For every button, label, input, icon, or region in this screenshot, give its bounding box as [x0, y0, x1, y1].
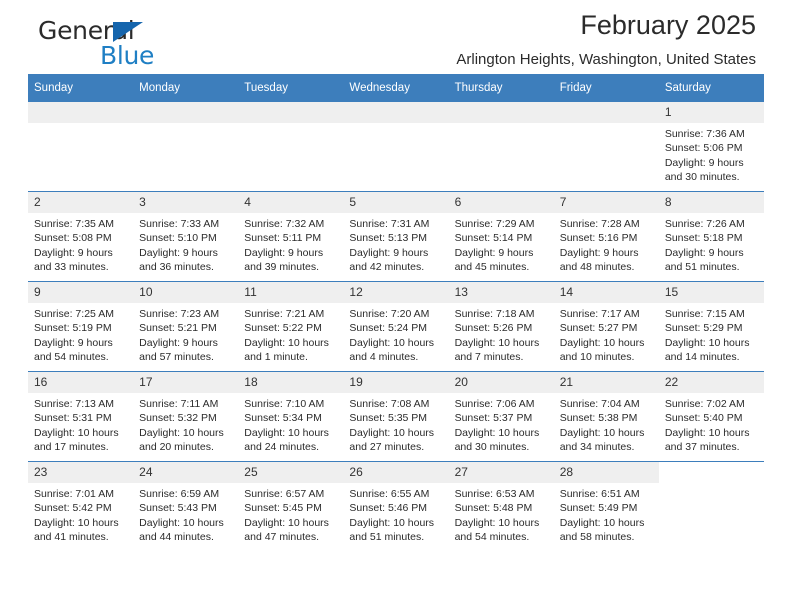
calendar-day-cell[interactable]: 17Sunrise: 7:11 AMSunset: 5:32 PMDayligh… — [133, 372, 238, 462]
calendar-day-cell[interactable]: 27Sunrise: 6:53 AMSunset: 5:48 PMDayligh… — [449, 462, 554, 552]
calendar-day-cell[interactable]: 10Sunrise: 7:23 AMSunset: 5:21 PMDayligh… — [133, 282, 238, 372]
calendar-week-row: 23Sunrise: 7:01 AMSunset: 5:42 PMDayligh… — [28, 462, 764, 552]
calendar-week-row: 9Sunrise: 7:25 AMSunset: 5:19 PMDaylight… — [28, 282, 764, 372]
sunset-text: Sunset: 5:37 PM — [455, 411, 549, 425]
sunrise-text: Sunrise: 7:15 AM — [665, 307, 759, 321]
weekday-header-wednesday: Wednesday — [343, 74, 448, 102]
calendar-day-cell[interactable]: 25Sunrise: 6:57 AMSunset: 5:45 PMDayligh… — [238, 462, 343, 552]
sunset-text: Sunset: 5:40 PM — [665, 411, 759, 425]
daylight-text: Daylight: 10 hours and 4 minutes. — [349, 336, 443, 365]
sunset-text: Sunset: 5:35 PM — [349, 411, 443, 425]
day-details: Sunrise: 7:25 AMSunset: 5:19 PMDaylight:… — [28, 303, 133, 364]
daylight-text: Daylight: 9 hours and 57 minutes. — [139, 336, 233, 365]
sunset-text: Sunset: 5:16 PM — [560, 231, 654, 245]
day-details: Sunrise: 7:23 AMSunset: 5:21 PMDaylight:… — [133, 303, 238, 364]
weekday-header-friday: Friday — [554, 74, 659, 102]
sunrise-text: Sunrise: 7:32 AM — [244, 217, 338, 231]
sunrise-text: Sunrise: 6:55 AM — [349, 487, 443, 501]
day-details: Sunrise: 7:01 AMSunset: 5:42 PMDaylight:… — [28, 483, 133, 544]
day-details: Sunrise: 6:57 AMSunset: 5:45 PMDaylight:… — [238, 483, 343, 544]
day-details: Sunrise: 7:11 AMSunset: 5:32 PMDaylight:… — [133, 393, 238, 454]
sunrise-text: Sunrise: 7:26 AM — [665, 217, 759, 231]
sunset-text: Sunset: 5:43 PM — [139, 501, 233, 515]
calendar-day-cell[interactable]: 20Sunrise: 7:06 AMSunset: 5:37 PMDayligh… — [449, 372, 554, 462]
daylight-text: Daylight: 9 hours and 45 minutes. — [455, 246, 549, 275]
weekday-header-thursday: Thursday — [449, 74, 554, 102]
sunrise-text: Sunrise: 6:53 AM — [455, 487, 549, 501]
calendar-week-row: 2Sunrise: 7:35 AMSunset: 5:08 PMDaylight… — [28, 192, 764, 282]
sunrise-text: Sunrise: 7:36 AM — [665, 127, 759, 141]
daylight-text: Daylight: 10 hours and 44 minutes. — [139, 516, 233, 545]
daylight-text: Daylight: 9 hours and 39 minutes. — [244, 246, 338, 275]
sunset-text: Sunset: 5:11 PM — [244, 231, 338, 245]
day-details: Sunrise: 7:20 AMSunset: 5:24 PMDaylight:… — [343, 303, 448, 364]
sunset-text: Sunset: 5:08 PM — [34, 231, 128, 245]
sunrise-text: Sunrise: 7:21 AM — [244, 307, 338, 321]
sunrise-text: Sunrise: 7:33 AM — [139, 217, 233, 231]
day-details: Sunrise: 7:13 AMSunset: 5:31 PMDaylight:… — [28, 393, 133, 454]
sunrise-text: Sunrise: 7:01 AM — [34, 487, 128, 501]
sunrise-text: Sunrise: 7:02 AM — [665, 397, 759, 411]
calendar-day-cell[interactable]: 5Sunrise: 7:31 AMSunset: 5:13 PMDaylight… — [343, 192, 448, 282]
sunrise-text: Sunrise: 7:06 AM — [455, 397, 549, 411]
daylight-text: Daylight: 10 hours and 54 minutes. — [455, 516, 549, 545]
day-details: Sunrise: 7:26 AMSunset: 5:18 PMDaylight:… — [659, 213, 764, 274]
sunset-text: Sunset: 5:26 PM — [455, 321, 549, 335]
calendar-week-row: 16Sunrise: 7:13 AMSunset: 5:31 PMDayligh… — [28, 372, 764, 462]
day-number: 20 — [449, 372, 554, 393]
day-details: Sunrise: 7:02 AMSunset: 5:40 PMDaylight:… — [659, 393, 764, 454]
day-number — [449, 102, 554, 123]
day-number: 27 — [449, 462, 554, 483]
day-number — [554, 102, 659, 123]
calendar-day-cell[interactable]: 7Sunrise: 7:28 AMSunset: 5:16 PMDaylight… — [554, 192, 659, 282]
calendar-empty-cell — [238, 102, 343, 192]
daylight-text: Daylight: 10 hours and 10 minutes. — [560, 336, 654, 365]
day-details: Sunrise: 6:55 AMSunset: 5:46 PMDaylight:… — [343, 483, 448, 544]
day-number: 17 — [133, 372, 238, 393]
day-number: 1 — [659, 102, 764, 123]
sunset-text: Sunset: 5:34 PM — [244, 411, 338, 425]
calendar-day-cell[interactable]: 6Sunrise: 7:29 AMSunset: 5:14 PMDaylight… — [449, 192, 554, 282]
calendar-week-row: 1Sunrise: 7:36 AMSunset: 5:06 PMDaylight… — [28, 102, 764, 192]
day-number — [133, 102, 238, 123]
sunrise-text: Sunrise: 7:25 AM — [34, 307, 128, 321]
daylight-text: Daylight: 9 hours and 36 minutes. — [139, 246, 233, 275]
calendar-day-cell[interactable]: 24Sunrise: 6:59 AMSunset: 5:43 PMDayligh… — [133, 462, 238, 552]
day-details: Sunrise: 7:28 AMSunset: 5:16 PMDaylight:… — [554, 213, 659, 274]
calendar-day-cell[interactable]: 2Sunrise: 7:35 AMSunset: 5:08 PMDaylight… — [28, 192, 133, 282]
day-number: 22 — [659, 372, 764, 393]
sunset-text: Sunset: 5:27 PM — [560, 321, 654, 335]
day-details: Sunrise: 7:32 AMSunset: 5:11 PMDaylight:… — [238, 213, 343, 274]
day-number — [28, 102, 133, 123]
sunset-text: Sunset: 5:14 PM — [455, 231, 549, 245]
day-details: Sunrise: 7:29 AMSunset: 5:14 PMDaylight:… — [449, 213, 554, 274]
weekday-header-monday: Monday — [133, 74, 238, 102]
calendar-day-cell[interactable]: 11Sunrise: 7:21 AMSunset: 5:22 PMDayligh… — [238, 282, 343, 372]
calendar-page: General Blue February 2025 Arlington Hei… — [0, 0, 792, 612]
sunrise-text: Sunrise: 7:10 AM — [244, 397, 338, 411]
day-details: Sunrise: 7:33 AMSunset: 5:10 PMDaylight:… — [133, 213, 238, 274]
sunrise-text: Sunrise: 6:59 AM — [139, 487, 233, 501]
logo-text-blue: Blue — [100, 41, 154, 70]
sunrise-text: Sunrise: 7:04 AM — [560, 397, 654, 411]
sunset-text: Sunset: 5:31 PM — [34, 411, 128, 425]
day-details: Sunrise: 7:08 AMSunset: 5:35 PMDaylight:… — [343, 393, 448, 454]
daylight-text: Daylight: 9 hours and 54 minutes. — [34, 336, 128, 365]
day-number: 7 — [554, 192, 659, 213]
calendar-empty-cell — [449, 102, 554, 192]
calendar-day-cell[interactable]: 1Sunrise: 7:36 AMSunset: 5:06 PMDaylight… — [659, 102, 764, 192]
sunrise-text: Sunrise: 7:11 AM — [139, 397, 233, 411]
weekday-header-sunday: Sunday — [28, 74, 133, 102]
day-number: 12 — [343, 282, 448, 303]
daylight-text: Daylight: 10 hours and 58 minutes. — [560, 516, 654, 545]
daylight-text: Daylight: 9 hours and 51 minutes. — [665, 246, 759, 275]
calendar-day-cell[interactable]: 12Sunrise: 7:20 AMSunset: 5:24 PMDayligh… — [343, 282, 448, 372]
daylight-text: Daylight: 10 hours and 37 minutes. — [665, 426, 759, 455]
day-number: 21 — [554, 372, 659, 393]
sunset-text: Sunset: 5:32 PM — [139, 411, 233, 425]
calendar-empty-cell — [554, 102, 659, 192]
daylight-text: Daylight: 10 hours and 51 minutes. — [349, 516, 443, 545]
daylight-text: Daylight: 10 hours and 30 minutes. — [455, 426, 549, 455]
calendar-day-cell[interactable]: 4Sunrise: 7:32 AMSunset: 5:11 PMDaylight… — [238, 192, 343, 282]
daylight-text: Daylight: 9 hours and 33 minutes. — [34, 246, 128, 275]
sunset-text: Sunset: 5:29 PM — [665, 321, 759, 335]
calendar-empty-cell — [343, 102, 448, 192]
daylight-text: Daylight: 10 hours and 17 minutes. — [34, 426, 128, 455]
day-details: Sunrise: 7:06 AMSunset: 5:37 PMDaylight:… — [449, 393, 554, 454]
calendar-empty-cell — [28, 102, 133, 192]
day-number: 23 — [28, 462, 133, 483]
daylight-text: Daylight: 9 hours and 30 minutes. — [665, 156, 759, 185]
calendar-day-cell[interactable]: 9Sunrise: 7:25 AMSunset: 5:19 PMDaylight… — [28, 282, 133, 372]
page-title: February 2025 — [456, 8, 756, 42]
calendar-day-cell[interactable]: 3Sunrise: 7:33 AMSunset: 5:10 PMDaylight… — [133, 192, 238, 282]
sunset-text: Sunset: 5:24 PM — [349, 321, 443, 335]
day-details: Sunrise: 6:53 AMSunset: 5:48 PMDaylight:… — [449, 483, 554, 544]
calendar-day-cell[interactable]: 26Sunrise: 6:55 AMSunset: 5:46 PMDayligh… — [343, 462, 448, 552]
sunrise-text: Sunrise: 6:57 AM — [244, 487, 338, 501]
calendar-day-cell[interactable]: 23Sunrise: 7:01 AMSunset: 5:42 PMDayligh… — [28, 462, 133, 552]
day-details: Sunrise: 7:04 AMSunset: 5:38 PMDaylight:… — [554, 393, 659, 454]
daylight-text: Daylight: 10 hours and 24 minutes. — [244, 426, 338, 455]
day-number: 26 — [343, 462, 448, 483]
daylight-text: Daylight: 9 hours and 48 minutes. — [560, 246, 654, 275]
sunrise-text: Sunrise: 6:51 AM — [560, 487, 654, 501]
day-number: 11 — [238, 282, 343, 303]
sunset-text: Sunset: 5:22 PM — [244, 321, 338, 335]
calendar-body: 1Sunrise: 7:36 AMSunset: 5:06 PMDaylight… — [28, 102, 764, 551]
page-subtitle: Arlington Heights, Washington, United St… — [456, 49, 756, 71]
day-number: 24 — [133, 462, 238, 483]
sunset-text: Sunset: 5:19 PM — [34, 321, 128, 335]
day-number: 2 — [28, 192, 133, 213]
page-header: General Blue February 2025 Arlington Hei… — [28, 0, 764, 74]
day-number — [238, 102, 343, 123]
day-number: 15 — [659, 282, 764, 303]
calendar-day-cell[interactable]: 15Sunrise: 7:15 AMSunset: 5:29 PMDayligh… — [659, 282, 764, 372]
day-details: Sunrise: 7:18 AMSunset: 5:26 PMDaylight:… — [449, 303, 554, 364]
calendar-empty-cell — [659, 462, 764, 552]
weekday-header-saturday: Saturday — [659, 74, 764, 102]
daylight-text: Daylight: 10 hours and 14 minutes. — [665, 336, 759, 365]
daylight-text: Daylight: 10 hours and 7 minutes. — [455, 336, 549, 365]
logo-triangle-icon — [113, 22, 143, 42]
sunrise-text: Sunrise: 7:28 AM — [560, 217, 654, 231]
calendar-empty-cell — [133, 102, 238, 192]
daylight-text: Daylight: 10 hours and 34 minutes. — [560, 426, 654, 455]
sunrise-text: Sunrise: 7:20 AM — [349, 307, 443, 321]
calendar-day-cell[interactable]: 18Sunrise: 7:10 AMSunset: 5:34 PMDayligh… — [238, 372, 343, 462]
day-details: Sunrise: 7:35 AMSunset: 5:08 PMDaylight:… — [28, 213, 133, 274]
calendar-day-cell[interactable]: 13Sunrise: 7:18 AMSunset: 5:26 PMDayligh… — [449, 282, 554, 372]
title-block: February 2025 Arlington Heights, Washing… — [456, 8, 756, 71]
day-number: 28 — [554, 462, 659, 483]
day-number: 6 — [449, 192, 554, 213]
sunrise-text: Sunrise: 7:18 AM — [455, 307, 549, 321]
sunset-text: Sunset: 5:10 PM — [139, 231, 233, 245]
sunrise-text: Sunrise: 7:35 AM — [34, 217, 128, 231]
calendar-day-cell[interactable]: 14Sunrise: 7:17 AMSunset: 5:27 PMDayligh… — [554, 282, 659, 372]
day-number: 10 — [133, 282, 238, 303]
day-number: 4 — [238, 192, 343, 213]
day-details: Sunrise: 6:51 AMSunset: 5:49 PMDaylight:… — [554, 483, 659, 544]
day-number: 5 — [343, 192, 448, 213]
sunset-text: Sunset: 5:49 PM — [560, 501, 654, 515]
sunrise-text: Sunrise: 7:08 AM — [349, 397, 443, 411]
general-blue-logo[interactable]: General Blue — [38, 16, 268, 70]
sunset-text: Sunset: 5:13 PM — [349, 231, 443, 245]
sunset-text: Sunset: 5:06 PM — [665, 141, 759, 155]
sunset-text: Sunset: 5:18 PM — [665, 231, 759, 245]
calendar-day-cell[interactable]: 19Sunrise: 7:08 AMSunset: 5:35 PMDayligh… — [343, 372, 448, 462]
day-details: Sunrise: 6:59 AMSunset: 5:43 PMDaylight:… — [133, 483, 238, 544]
day-number — [343, 102, 448, 123]
sunrise-text: Sunrise: 7:29 AM — [455, 217, 549, 231]
day-details: Sunrise: 7:31 AMSunset: 5:13 PMDaylight:… — [343, 213, 448, 274]
calendar-day-cell[interactable]: 8Sunrise: 7:26 AMSunset: 5:18 PMDaylight… — [659, 192, 764, 282]
daylight-text: Daylight: 10 hours and 20 minutes. — [139, 426, 233, 455]
day-number: 9 — [28, 282, 133, 303]
sunset-text: Sunset: 5:21 PM — [139, 321, 233, 335]
day-number: 18 — [238, 372, 343, 393]
day-number: 19 — [343, 372, 448, 393]
sunrise-sunset-calendar: Sunday Monday Tuesday Wednesday Thursday… — [28, 74, 764, 551]
day-number: 14 — [554, 282, 659, 303]
daylight-text: Daylight: 10 hours and 41 minutes. — [34, 516, 128, 545]
calendar-day-cell[interactable]: 28Sunrise: 6:51 AMSunset: 5:49 PMDayligh… — [554, 462, 659, 552]
sunrise-text: Sunrise: 7:17 AM — [560, 307, 654, 321]
day-number: 3 — [133, 192, 238, 213]
sunset-text: Sunset: 5:45 PM — [244, 501, 338, 515]
day-number: 8 — [659, 192, 764, 213]
sunset-text: Sunset: 5:42 PM — [34, 501, 128, 515]
day-details: Sunrise: 7:36 AMSunset: 5:06 PMDaylight:… — [659, 123, 764, 184]
day-number: 16 — [28, 372, 133, 393]
calendar-day-cell[interactable]: 16Sunrise: 7:13 AMSunset: 5:31 PMDayligh… — [28, 372, 133, 462]
sunrise-text: Sunrise: 7:13 AM — [34, 397, 128, 411]
sunrise-text: Sunrise: 7:31 AM — [349, 217, 443, 231]
calendar-day-cell[interactable]: 21Sunrise: 7:04 AMSunset: 5:38 PMDayligh… — [554, 372, 659, 462]
daylight-text: Daylight: 9 hours and 42 minutes. — [349, 246, 443, 275]
daylight-text: Daylight: 10 hours and 27 minutes. — [349, 426, 443, 455]
day-number: 13 — [449, 282, 554, 303]
weekday-header-tuesday: Tuesday — [238, 74, 343, 102]
daylight-text: Daylight: 10 hours and 47 minutes. — [244, 516, 338, 545]
calendar-day-cell[interactable]: 22Sunrise: 7:02 AMSunset: 5:40 PMDayligh… — [659, 372, 764, 462]
sunrise-text: Sunrise: 7:23 AM — [139, 307, 233, 321]
day-details: Sunrise: 7:21 AMSunset: 5:22 PMDaylight:… — [238, 303, 343, 364]
day-details: Sunrise: 7:10 AMSunset: 5:34 PMDaylight:… — [238, 393, 343, 454]
weekday-header-row: Sunday Monday Tuesday Wednesday Thursday… — [28, 74, 764, 102]
day-details: Sunrise: 7:17 AMSunset: 5:27 PMDaylight:… — [554, 303, 659, 364]
day-details: Sunrise: 7:15 AMSunset: 5:29 PMDaylight:… — [659, 303, 764, 364]
daylight-text: Daylight: 10 hours and 1 minute. — [244, 336, 338, 365]
day-number: 25 — [238, 462, 343, 483]
sunset-text: Sunset: 5:46 PM — [349, 501, 443, 515]
sunset-text: Sunset: 5:38 PM — [560, 411, 654, 425]
sunset-text: Sunset: 5:48 PM — [455, 501, 549, 515]
